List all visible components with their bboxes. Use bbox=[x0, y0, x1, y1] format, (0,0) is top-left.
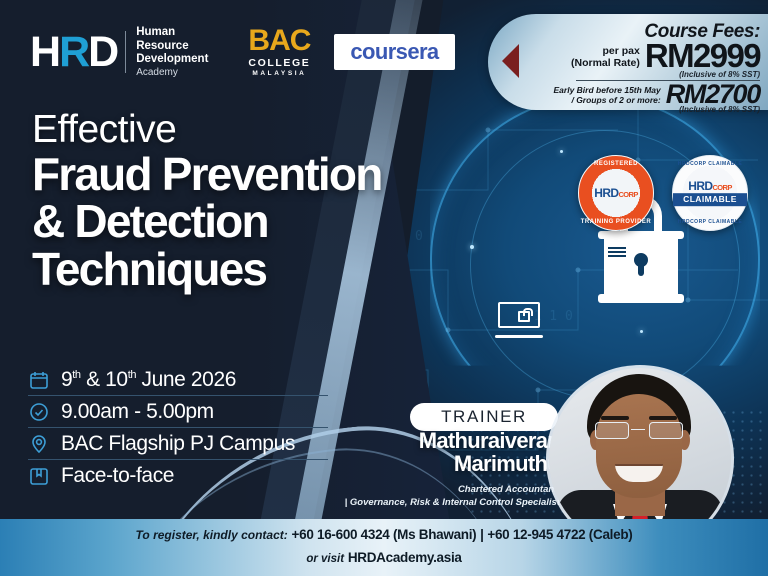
claimable-badge-ring-bottom: HRDCORP CLAIMABLE bbox=[673, 219, 747, 225]
footer-register-prefix: To register, kindly contact: bbox=[136, 528, 288, 542]
claimable-badge-ring-top: HRDCORP CLAIMABLE bbox=[673, 161, 747, 167]
laptop-security-icon bbox=[495, 302, 543, 338]
hrd-logo-wordmark: Human Resource Development Academy bbox=[136, 26, 208, 78]
early-bird-amount: RM2700 bbox=[666, 83, 760, 106]
trainer-credential-line2: | Governance, Risk & Internal Control Sp… bbox=[250, 497, 560, 510]
normal-rate-row: per pax (Normal Rate) RM2999 bbox=[532, 42, 760, 70]
registered-badge-brand-main: HRD bbox=[594, 186, 618, 200]
detail-row-date: 9th & 10th June 2026 bbox=[28, 364, 328, 395]
hrd-word-line4: Academy bbox=[136, 67, 208, 79]
trainer-pill-label: TRAINER bbox=[410, 403, 558, 431]
course-fees-banner: Course Fees: per pax (Normal Rate) RM299… bbox=[488, 14, 768, 110]
detail-row-time: 9.00am - 5.00pm bbox=[28, 395, 328, 427]
claimable-badge-brand-sub: CORP bbox=[712, 183, 731, 192]
poster-canvas: 1 0 1 00 1 1 0 1 0 0 1 00 1 HRD Human Re… bbox=[0, 0, 768, 576]
registered-badge-ring-bottom: TRAINING PROVIDER bbox=[579, 219, 653, 225]
detail-text-venue: BAC Flagship PJ Campus bbox=[61, 432, 295, 456]
trainer-credentials: Chartered Accountant, | Governance, Risk… bbox=[250, 484, 560, 510]
logo-divider bbox=[125, 31, 126, 73]
hrd-word-line2: Resource bbox=[136, 40, 208, 54]
bac-logo-country: MALAYSIA bbox=[248, 70, 310, 77]
trainer-pill: TRAINER bbox=[410, 403, 558, 431]
early-bird-row: Early Bird before 15th May / Groups of 2… bbox=[532, 83, 760, 106]
footer-contact-line: To register, kindly contact: +60 16-600 … bbox=[0, 528, 768, 543]
footer-visit-prefix: or visit bbox=[306, 553, 344, 565]
course-title-line1: Fraud Prevention bbox=[32, 151, 592, 198]
registered-badge-brand: HRDCORP bbox=[579, 187, 653, 199]
footer-website-link[interactable]: HRDAcademy.asia bbox=[348, 550, 462, 565]
hrd-academy-logo: HRD Human Resource Development Academy bbox=[30, 26, 208, 78]
early-bird-label-line1: Early Bird before 15th May bbox=[554, 85, 661, 95]
hrdcorp-registered-badge: REGISTERED TRAINING PROVIDER HRDCORP bbox=[578, 155, 654, 231]
bac-logo-mark: BAC bbox=[248, 27, 310, 56]
early-bird-label-line2: / Groups of 2 or more: bbox=[554, 95, 661, 105]
bac-logo-college: COLLEGE bbox=[248, 57, 310, 69]
clock-icon bbox=[28, 401, 50, 423]
bac-college-logo: BAC COLLEGE MALAYSIA bbox=[248, 27, 310, 78]
logo-row: HRD Human Resource Development Academy B… bbox=[30, 26, 455, 78]
footer-contact-1[interactable]: +60 16-600 4324 (Ms Bhawani) bbox=[292, 527, 477, 542]
hrd-letter-h: H bbox=[30, 28, 59, 76]
hrd-letter-r: R bbox=[59, 28, 88, 76]
normal-rate-label: per pax (Normal Rate) bbox=[571, 46, 640, 70]
detail-row-venue: BAC Flagship PJ Campus bbox=[28, 427, 328, 459]
normal-rate-label-line2: (Normal Rate) bbox=[571, 58, 640, 70]
course-details-list: 9th & 10th June 2026 9.00am - 5.00pm BAC… bbox=[28, 364, 328, 491]
course-title-line3: Techniques bbox=[32, 246, 592, 293]
registered-badge-ring-top: REGISTERED bbox=[579, 161, 653, 167]
course-title-line2: & Detection bbox=[32, 198, 592, 245]
coursera-logo: coursera bbox=[334, 34, 454, 70]
footer-contact-separator: | bbox=[480, 527, 483, 542]
early-bird-label: Early Bird before 15th May / Groups of 2… bbox=[554, 85, 661, 105]
detail-text-date: 9th & 10th June 2026 bbox=[61, 368, 236, 392]
hrd-word-line3: Development bbox=[136, 53, 208, 67]
footer-contact-2[interactable]: +60 12-945 4722 (Caleb) bbox=[487, 527, 632, 542]
spark-decoration bbox=[640, 330, 643, 333]
detail-text-format: Face-to-face bbox=[61, 464, 174, 488]
presentation-icon bbox=[28, 465, 50, 487]
trainer-name: Mathuraiveran Marimuthu bbox=[300, 430, 560, 476]
detail-text-time: 9.00am - 5.00pm bbox=[61, 400, 214, 424]
trainer-name-line2: Marimuthu bbox=[300, 453, 560, 476]
claimable-badge-brand: HRDCORP bbox=[673, 180, 747, 192]
hrd-logo-mark: HRD bbox=[30, 31, 117, 74]
hrd-word-line1: Human bbox=[136, 26, 208, 40]
calendar-icon bbox=[28, 369, 50, 391]
footer-contact-bar: To register, kindly contact: +60 16-600 … bbox=[0, 519, 768, 576]
location-pin-icon bbox=[28, 433, 50, 455]
footer-website-line: or visit HRDAcademy.asia bbox=[0, 550, 768, 565]
course-title-eyebrow: Effective bbox=[32, 110, 592, 151]
trainer-credential-line1: Chartered Accountant, bbox=[250, 484, 560, 497]
registered-badge-brand-sub: CORP bbox=[618, 190, 637, 199]
course-title-block: Effective Fraud Prevention & Detection T… bbox=[32, 110, 592, 293]
claimable-badge-brand-main: HRD bbox=[688, 179, 712, 193]
hrdcorp-claimable-badge: HRDCORP CLAIMABLE HRDCORP CLAIMABLE HRDC… bbox=[672, 155, 748, 231]
trainer-name-line1: Mathuraiveran bbox=[300, 430, 560, 453]
normal-rate-amount: RM2999 bbox=[645, 42, 760, 70]
hrd-letter-d: D bbox=[88, 28, 117, 76]
claimable-badge-label: CLAIMABLE bbox=[673, 193, 747, 206]
